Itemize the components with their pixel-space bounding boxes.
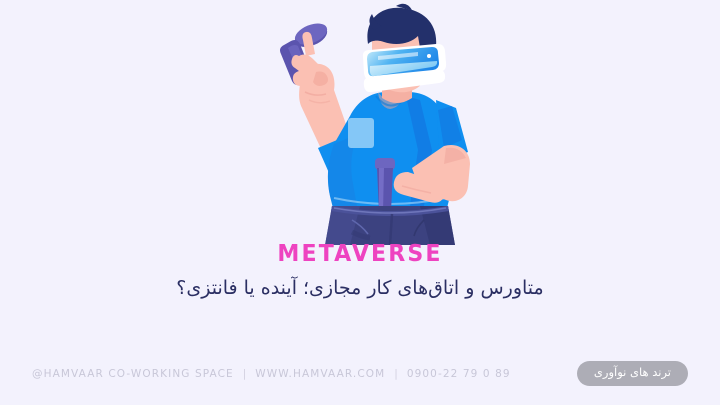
poster-canvas: METAVERSE متاورس و اتاق‌های کار مجازی؛ آ… <box>0 0 720 405</box>
footer-separator-2: | <box>394 368 398 380</box>
footer-phone: 0900-22 79 0 89 <box>407 368 511 380</box>
innovation-trends-badge[interactable]: ترند های نوآوری <box>577 361 688 387</box>
footer-separator-1: | <box>243 368 247 380</box>
footer-bar: @HAMVAAR CO-WORKING SPACE | WWW.HAMVAAR.… <box>0 342 720 405</box>
vr-user-illustration <box>0 0 720 245</box>
footer-handle: @HAMVAAR CO-WORKING SPACE <box>32 368 234 380</box>
shorts <box>325 206 455 245</box>
footer-contact-info: @HAMVAAR CO-WORKING SPACE | WWW.HAMVAAR.… <box>32 368 511 380</box>
shirt-pocket <box>348 118 374 148</box>
metaverse-title: METAVERSE <box>14 243 705 266</box>
footer-website[interactable]: WWW.HAMVAAR.COM <box>255 368 385 380</box>
title-block: METAVERSE متاورس و اتاق‌های کار مجازی؛ آ… <box>0 243 720 303</box>
headline-text: متاورس و اتاق‌های کار مجازی؛ آینده یا فا… <box>0 275 720 303</box>
